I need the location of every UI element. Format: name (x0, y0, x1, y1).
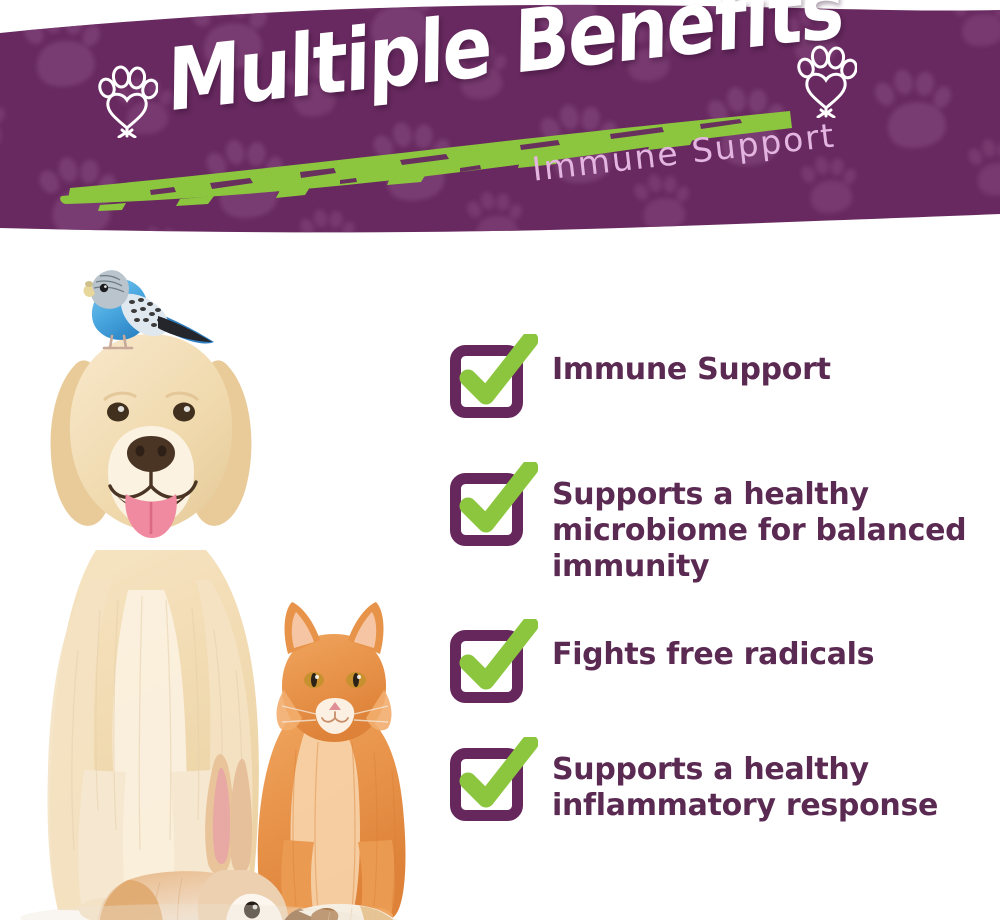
benefit-line: Fights free radicals (552, 637, 874, 673)
benefits-list: Immune Support Supports a healthy microb… (450, 340, 970, 824)
benefit-text: Supports a healthy microbiome for balanc… (552, 468, 966, 585)
benefit-text: Immune Support (552, 340, 831, 388)
checkbox-checked-icon (450, 625, 528, 697)
banner-shape (0, 0, 1000, 250)
benefit-line: microbiome for balanced (552, 513, 966, 549)
checkbox-checked-icon (450, 468, 528, 540)
pets-photo (0, 250, 440, 920)
benefit-item: Supports a healthy microbiome for balanc… (450, 468, 970, 585)
checkbox-checked-icon (450, 743, 528, 815)
benefit-line: Immune Support (552, 352, 831, 388)
benefit-text: Supports a healthy inflammatory response (552, 743, 938, 824)
header-banner: Multiple Benefits Immune Support (0, 0, 1000, 250)
checkbox-checked-icon (450, 340, 528, 412)
benefit-line: inflammatory response (552, 788, 938, 824)
benefit-line: immunity (552, 549, 966, 585)
benefit-line: Supports a healthy (552, 477, 966, 513)
benefit-text: Fights free radicals (552, 625, 874, 673)
benefit-item: Supports a healthy inflammatory response (450, 743, 970, 824)
benefit-line: Supports a healthy (552, 752, 938, 788)
product-benefits-infographic: Multiple Benefits Immune Support (0, 0, 1000, 920)
benefit-item: Fights free radicals (450, 625, 970, 697)
benefit-item: Immune Support (450, 340, 970, 412)
